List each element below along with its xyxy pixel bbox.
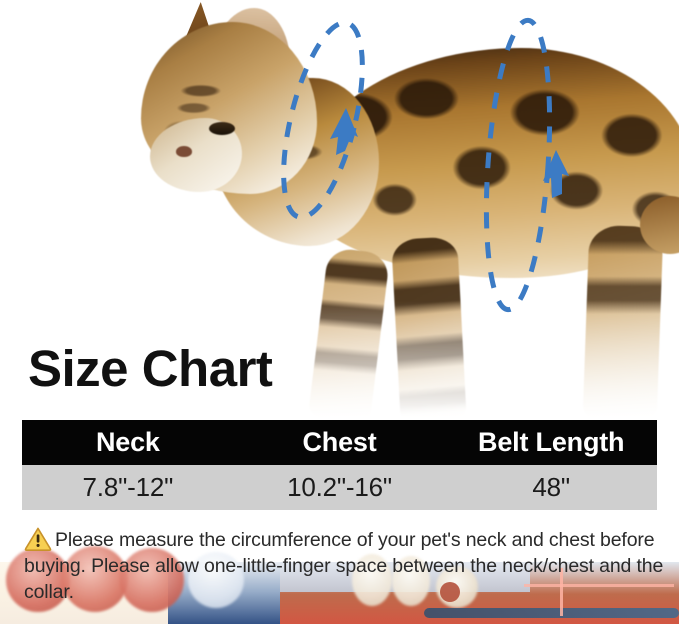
cell-chest: 10.2"-16" bbox=[234, 465, 446, 510]
measurement-note-text: Please measure the circumference of your… bbox=[24, 529, 663, 603]
measurement-note: Please measure the circumference of your… bbox=[24, 526, 664, 605]
size-chart-page: Size Chart Neck Chest Belt Length 7.8"-1… bbox=[0, 0, 679, 624]
table-header-row: Neck Chest Belt Length bbox=[22, 420, 657, 465]
warning-triangle-icon bbox=[24, 526, 52, 551]
page-title: Size Chart bbox=[28, 343, 272, 394]
size-table: Neck Chest Belt Length 7.8"-12" 10.2"-16… bbox=[22, 420, 657, 510]
neck-measure-marker bbox=[268, 15, 378, 225]
chest-measure-marker bbox=[478, 18, 569, 311]
cell-neck: 7.8"-12" bbox=[22, 465, 234, 510]
column-header-chest: Chest bbox=[234, 420, 446, 465]
cell-belt-length: 48" bbox=[445, 465, 657, 510]
table-row: 7.8"-12" 10.2"-16" 48" bbox=[22, 465, 657, 510]
note-section: Please measure the circumference of your… bbox=[0, 512, 679, 624]
column-header-neck: Neck bbox=[22, 420, 234, 465]
neck-measure-arrow bbox=[330, 108, 358, 155]
column-header-belt-length: Belt Length bbox=[445, 420, 657, 465]
